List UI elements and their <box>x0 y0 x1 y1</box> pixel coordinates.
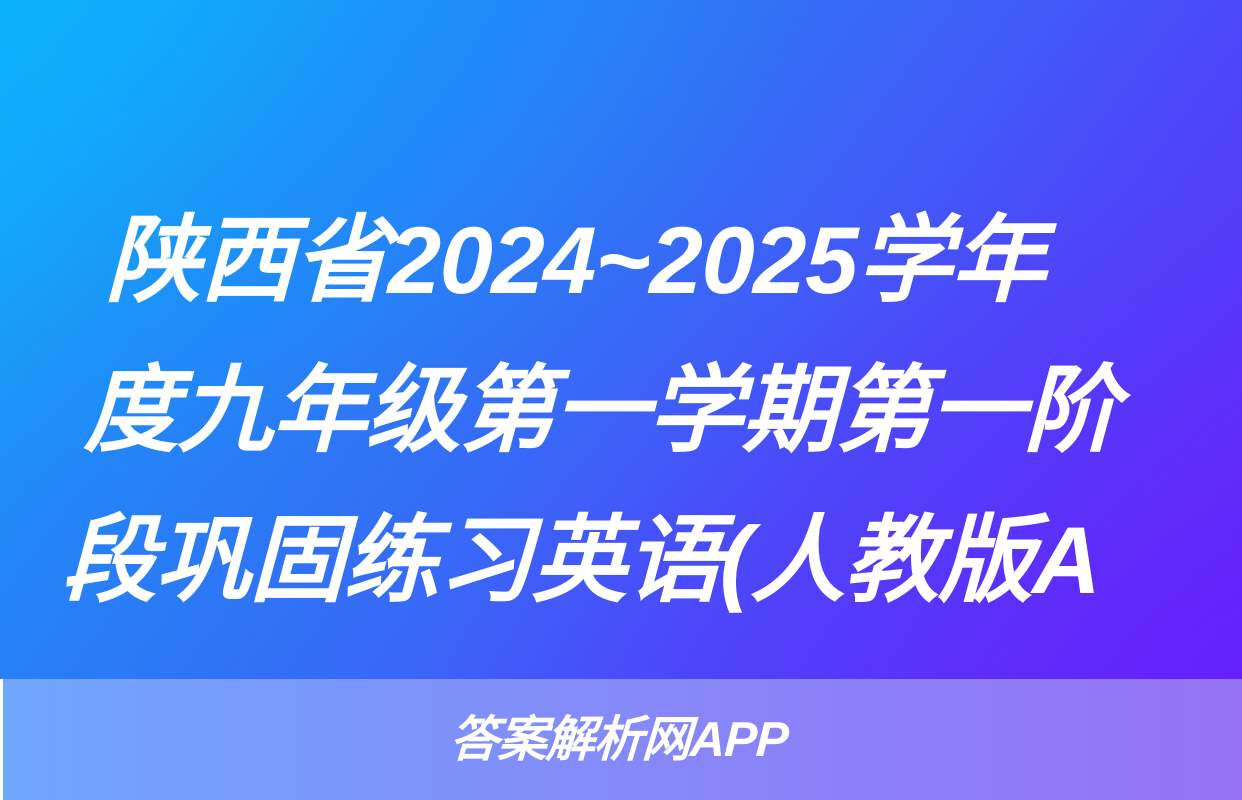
title-line-1: 陕西省2024~2025学年 <box>61 186 1242 336</box>
page-title: 陕西省2024~2025学年 度九年级第一学期第一阶 段巩固练习英语(人教版A <box>62 186 1242 636</box>
title-line-2: 度九年级第一学期第一阶 <box>61 336 1242 486</box>
watermark-app-label: 答案解析网APP <box>448 716 788 765</box>
title-line-3: 段巩固练习英语(人教版A <box>61 486 1242 636</box>
watermark-band: 答案解析网APP <box>3 679 1242 800</box>
hero-gradient-background: 陕西省2024~2025学年 度九年级第一学期第一阶 段巩固练习英语(人教版A <box>0 0 1242 679</box>
poster-canvas: 陕西省2024~2025学年 度九年级第一学期第一阶 段巩固练习英语(人教版A … <box>0 0 1242 800</box>
